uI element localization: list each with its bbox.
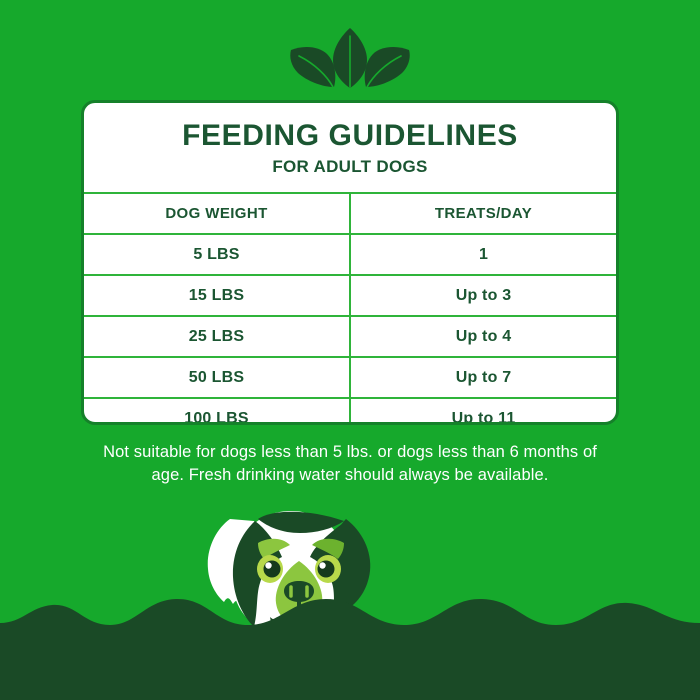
cell-treats-per-day: Up to 4 <box>350 316 616 357</box>
disclaimer-text: Not suitable for dogs less than 5 lbs. o… <box>95 441 605 486</box>
cell-dog-weight: 100 LBS <box>84 398 350 425</box>
cell-dog-weight: 50 LBS <box>84 357 350 398</box>
card-header: FEEDING GUIDELINES FOR ADULT DOGS <box>84 103 616 192</box>
table-header-row: DOG WEIGHT TREATS/DAY <box>84 193 616 234</box>
cell-treats-per-day: Up to 7 <box>350 357 616 398</box>
table-row: 15 LBS Up to 3 <box>84 275 616 316</box>
cell-dog-weight: 25 LBS <box>84 316 350 357</box>
cell-dog-weight: 5 LBS <box>84 234 350 275</box>
column-header-dog-weight: DOG WEIGHT <box>84 193 350 234</box>
feeding-guidelines-poster: FEEDING GUIDELINES FOR ADULT DOGS DOG WE… <box>0 0 700 700</box>
table-row: 5 LBS 1 <box>84 234 616 275</box>
cell-treats-per-day: 1 <box>350 234 616 275</box>
table-row: 25 LBS Up to 4 <box>84 316 616 357</box>
table-row: 100 LBS Up to 11 <box>84 398 616 425</box>
feeding-guidelines-card: FEEDING GUIDELINES FOR ADULT DOGS DOG WE… <box>81 100 619 425</box>
cell-dog-weight: 15 LBS <box>84 275 350 316</box>
three-leaf-sprout-icon <box>289 28 411 90</box>
page-subtitle: FOR ADULT DOGS <box>272 158 427 175</box>
scalloped-hill-shape <box>0 585 700 700</box>
feeding-guidelines-table: DOG WEIGHT TREATS/DAY 5 LBS 1 15 LBS Up … <box>84 192 616 425</box>
cell-treats-per-day: Up to 11 <box>350 398 616 425</box>
cell-treats-per-day: Up to 3 <box>350 275 616 316</box>
page-title: FEEDING GUIDELINES <box>182 121 518 151</box>
table-row: 50 LBS Up to 7 <box>84 357 616 398</box>
column-header-treats-per-day: TREATS/DAY <box>350 193 616 234</box>
